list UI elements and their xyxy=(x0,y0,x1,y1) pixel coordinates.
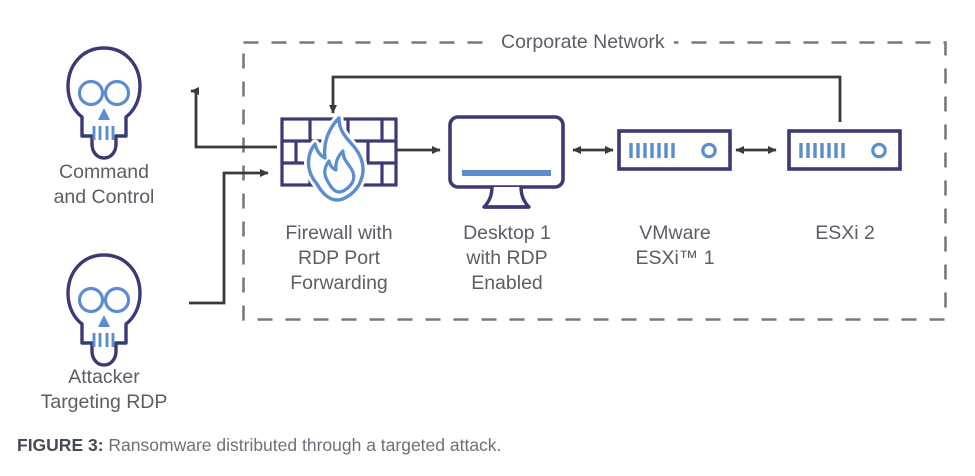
server-icon xyxy=(619,131,730,169)
node-label-firewall: Firewall with RDP Port Forwarding xyxy=(259,221,419,296)
figure-container: Corporate Network Command and Control At… xyxy=(0,0,975,476)
node-label-esxi-2: ESXi 2 xyxy=(767,221,923,246)
node-label-vmware-esxi-1: VMware ESXi™ 1 xyxy=(597,221,753,271)
corporate-network-title: Corporate Network xyxy=(492,31,674,53)
figure-caption: FIGURE 3: Ransomware distributed through… xyxy=(17,434,501,456)
node-label-command-and-control: Command and Control xyxy=(24,160,184,210)
desktop-monitor-icon xyxy=(450,117,563,207)
node-label-desktop-1: Desktop 1 with RDP Enabled xyxy=(429,221,585,296)
figure-caption-label: FIGURE 3: xyxy=(17,435,104,455)
connector-esxi2-to-firewall xyxy=(333,77,840,122)
connector-firewall-to-command-and-control xyxy=(191,91,277,147)
skull-icon xyxy=(68,255,140,365)
skull-icon xyxy=(68,48,140,158)
node-label-attacker-targeting-rdp: Attacker Targeting RDP xyxy=(16,365,192,415)
server-icon xyxy=(789,131,900,169)
figure-caption-text: Ransomware distributed through a targete… xyxy=(108,435,501,455)
connector-attacker-to-firewall xyxy=(189,173,268,303)
firewall-flame-icon xyxy=(282,118,396,200)
